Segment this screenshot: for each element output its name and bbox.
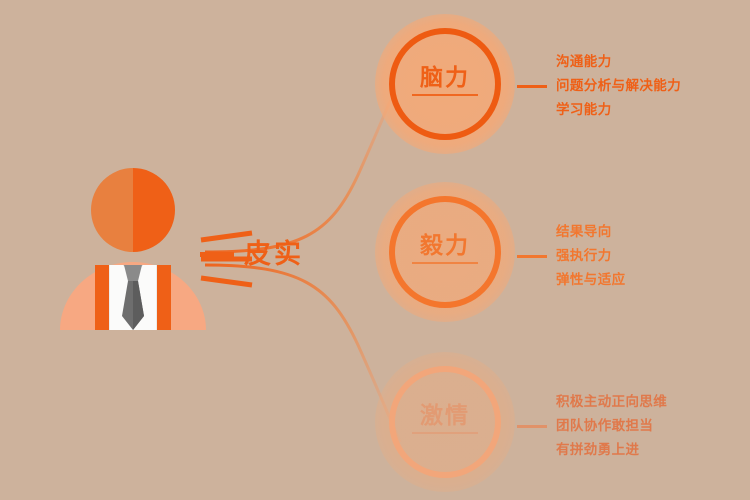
ray-bottom bbox=[201, 278, 252, 285]
detail-lead-dash bbox=[517, 425, 547, 428]
detail-list: 积极主动正向思维 团队协作敢担当 有拼劲勇上进 bbox=[556, 390, 667, 462]
core-label-text: 皮实 bbox=[244, 241, 304, 268]
detail-group-perseverance: 结果导向 强执行力 弹性与适应 bbox=[517, 220, 626, 292]
core-label: 皮实 bbox=[200, 241, 304, 268]
node-passion[interactable]: 激情 bbox=[375, 352, 515, 492]
node-label: 脑力 bbox=[375, 66, 515, 89]
detail-item: 积极主动正向思维 bbox=[556, 390, 667, 414]
detail-item: 沟通能力 bbox=[556, 50, 681, 74]
detail-list: 结果导向 强执行力 弹性与适应 bbox=[556, 220, 626, 292]
detail-item: 强执行力 bbox=[556, 244, 626, 268]
node-label-underline bbox=[412, 94, 478, 96]
detail-item: 问题分析与解决能力 bbox=[556, 74, 681, 98]
node-perseverance[interactable]: 毅力 bbox=[375, 182, 515, 322]
detail-item: 有拼劲勇上进 bbox=[556, 438, 667, 462]
infographic-canvas: 皮实 脑力 毅力 激情 沟通能力 问题分析与解决能力 学习能力 结果导向 强 bbox=[0, 0, 750, 500]
detail-item: 团队协作敢担当 bbox=[556, 414, 667, 438]
node-label: 毅力 bbox=[375, 234, 515, 257]
node-brainpower[interactable]: 脑力 bbox=[375, 14, 515, 154]
detail-lead-dash bbox=[517, 255, 547, 258]
node-label: 激情 bbox=[375, 404, 515, 427]
detail-list: 沟通能力 问题分析与解决能力 学习能力 bbox=[556, 50, 681, 122]
detail-lead-dash bbox=[517, 85, 547, 88]
detail-group-passion: 积极主动正向思维 团队协作敢担当 有拼劲勇上进 bbox=[517, 390, 667, 462]
detail-item: 结果导向 bbox=[556, 220, 626, 244]
detail-group-brainpower: 沟通能力 问题分析与解决能力 学习能力 bbox=[517, 50, 681, 122]
node-label-underline bbox=[412, 262, 478, 264]
detail-item: 学习能力 bbox=[556, 98, 681, 122]
core-label-dash bbox=[200, 252, 234, 257]
node-label-underline bbox=[412, 432, 478, 434]
detail-item: 弹性与适应 bbox=[556, 268, 626, 292]
